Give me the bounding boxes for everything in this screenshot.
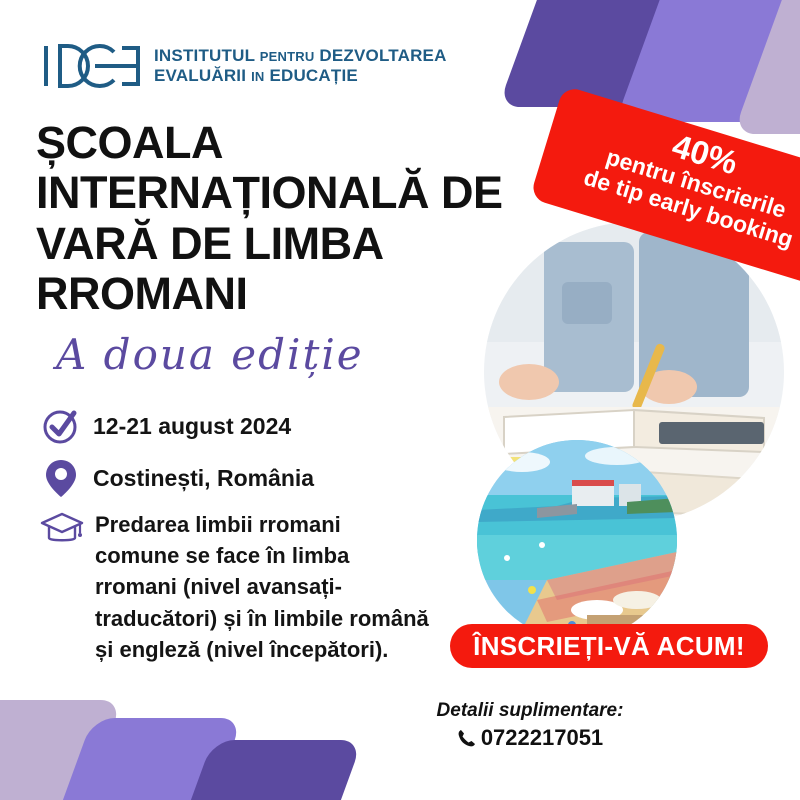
detail-row-location: Costinești, România — [40, 457, 430, 499]
brand-logo-text: INSTITUTUL PENTRU DEZVOLTAREA EVALUĂRII … — [154, 46, 447, 85]
detail-date-text: 12-21 august 2024 — [93, 405, 291, 441]
idee-logo-mark-icon — [40, 40, 144, 92]
logo-line-1: INSTITUTUL PENTRU DEZVOLTAREA — [154, 46, 447, 66]
logo-word-evaluarii: EVALUĂRII — [154, 66, 246, 85]
logo-word-in: IN — [251, 69, 264, 84]
check-circle-icon — [40, 405, 82, 447]
beach-resort-illustration — [477, 440, 677, 640]
detail-location-text: Costinești, România — [93, 457, 314, 493]
logo-word-institutul: INSTITUTUL — [154, 46, 255, 65]
logo-word-dezvoltarea: DEZVOLTAREA — [319, 46, 446, 65]
poster-canvas: INSTITUTUL PENTRU DEZVOLTAREA EVALUĂRII … — [0, 0, 800, 800]
edition-subtitle: A doua ediție — [56, 330, 364, 379]
register-now-button[interactable]: ÎNSCRIEȚI-VĂ ACUM! — [450, 624, 768, 668]
contact-label: Detalii suplimentare: — [380, 700, 680, 722]
contact-phone-number: 0722217051 — [481, 725, 603, 751]
graduation-cap-icon — [40, 511, 84, 545]
page-title: ȘCOALA INTERNAȚIONALĂ DE VARĂ DE LIMBA R… — [36, 118, 506, 320]
contact-phone-row[interactable]: 0722217051 — [380, 725, 680, 751]
costinesti-beach-photo — [477, 440, 677, 640]
detail-description-text: Predarea limbii rromani comune se face î… — [95, 509, 430, 665]
logo-word-educatie: EDUCAȚIE — [269, 66, 358, 85]
contact-block: Detalii suplimentare: 0722217051 — [380, 700, 680, 751]
event-details-list: 12-21 august 2024 Costinești, România Pr… — [40, 405, 430, 675]
brand-logo: INSTITUTUL PENTRU DEZVOLTAREA EVALUĂRII … — [40, 40, 447, 92]
logo-word-pentru: PENTRU — [260, 49, 315, 64]
location-pin-icon — [40, 457, 82, 499]
detail-row-description: Predarea limbii rromani comune se face î… — [40, 509, 430, 665]
detail-row-date: 12-21 august 2024 — [40, 405, 430, 447]
phone-icon — [457, 728, 477, 748]
logo-line-2: EVALUĂRII IN EDUCAȚIE — [154, 66, 447, 86]
